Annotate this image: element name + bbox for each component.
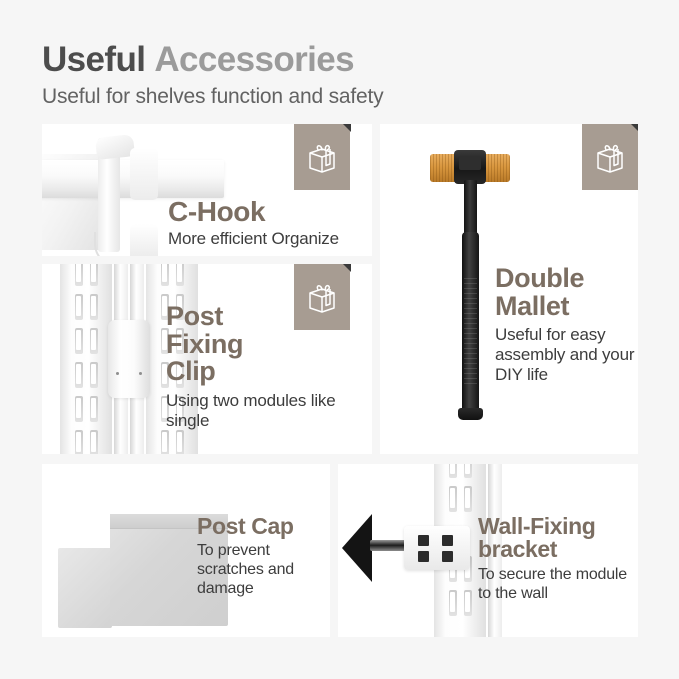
badge-fold-corner	[342, 264, 351, 272]
gift-badge-double-mallet	[582, 124, 638, 190]
page-title-secondary: Accessories	[154, 40, 354, 79]
card-post-cap-text: Post Cap To prevent scratches and damage	[197, 515, 332, 599]
mallet-center-block-shape	[454, 150, 486, 184]
card-double-mallet-text: Double Mallet Useful for easy assembly a…	[495, 265, 635, 385]
post-fixing-clip-headline-line2: Fixing	[166, 331, 366, 359]
mallet-head-right-shape	[482, 154, 510, 182]
card-wall-fixing-bracket-text: Wall-Fixing bracket To secure the module…	[478, 515, 628, 604]
page-title-primary: Useful	[42, 40, 145, 79]
wall-fixing-bracket-headline-line1: Wall-Fixing	[478, 515, 628, 538]
post-fixing-clip-subline: Using two modules like single	[166, 391, 366, 431]
gift-badge-c-hook	[294, 124, 350, 190]
wall-fixing-bracket-subline: To secure the module to the wall	[478, 566, 628, 604]
gift-box-icon	[593, 140, 627, 174]
card-post-fixing-clip-text: Post Fixing Clip Using two modules like …	[166, 303, 366, 431]
badge-fold-corner	[342, 124, 351, 132]
c-hook-tab-upper-shape	[130, 148, 158, 200]
badge-fold-corner	[630, 124, 638, 132]
card-c-hook-text: C-Hook More efficient Organize	[168, 198, 339, 249]
mallet-grip-shape	[462, 232, 479, 414]
post-left-slots	[60, 264, 112, 454]
wall-fixing-bracket-headline-line2: bracket	[478, 538, 628, 561]
post-cap-headline: Post Cap	[197, 515, 332, 538]
c-hook-wire-shape	[94, 232, 138, 256]
post-fixing-clip-shape	[108, 320, 150, 398]
page-subtitle: Useful for shelves function and safety	[42, 85, 642, 109]
mallet-butt-shape	[458, 408, 483, 420]
post-cap-subline: To prevent scratches and damage	[197, 542, 332, 599]
post-fixing-clip-headline-line3: Clip	[166, 358, 366, 386]
double-mallet-headline-line2: Mallet	[495, 293, 635, 321]
double-mallet-subline: Useful for easy assembly and your DIY li…	[495, 325, 635, 385]
post-cap-side-shape	[58, 548, 112, 628]
page-title: UsefulAccessories	[42, 42, 642, 79]
post-fixing-clip-headline-line1: Post	[166, 303, 366, 331]
gift-box-icon	[305, 140, 339, 174]
wall-anchor-cone-shape	[342, 514, 372, 582]
double-mallet-headline-line1: Double	[495, 265, 635, 293]
wall-bracket-plate-shape	[404, 526, 470, 570]
mallet-neck-shape	[464, 180, 477, 236]
c-hook-headline: C-Hook	[168, 198, 339, 227]
page-header: UsefulAccessories Useful for shelves fun…	[42, 42, 642, 109]
c-hook-subline: More efficient Organize	[168, 229, 339, 249]
post-left-shape	[60, 264, 112, 454]
